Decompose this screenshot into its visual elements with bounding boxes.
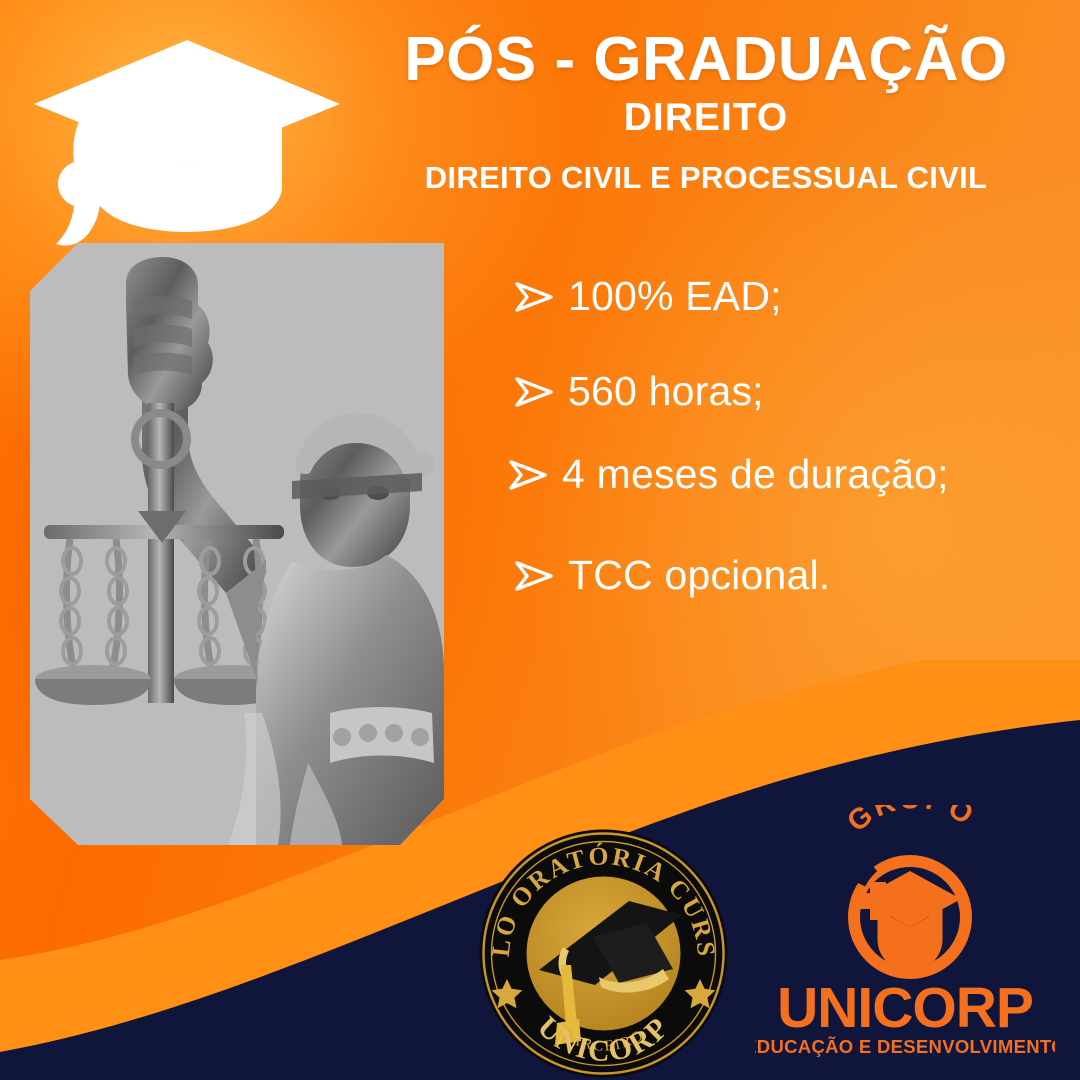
arrow-bullet-icon xyxy=(512,280,568,319)
features-list: 100% EAD; 560 horas; 4 meses de duração;… xyxy=(512,276,1052,598)
course-name: DIREITO CIVIL E PROCESSUAL CIVIL xyxy=(356,160,1056,196)
unicorp-tagline: EDUCAÇÃO E DESENVOLVIMENTO xyxy=(755,1036,1055,1057)
unicorp-grupo-label: GRUPO xyxy=(842,805,981,838)
lady-justice-photo xyxy=(30,243,444,845)
list-item: TCC opcional. xyxy=(512,555,1052,598)
list-item: 4 meses de duração; xyxy=(506,454,1052,497)
graduation-cap-icon xyxy=(22,18,352,258)
page-subtitle: DIREITO xyxy=(356,96,1056,140)
list-item-label: TCC opcional. xyxy=(568,555,830,596)
unicorp-circle-cap-icon xyxy=(854,861,966,973)
page-title: PÓS - GRADUAÇÃO xyxy=(356,28,1056,92)
arrow-bullet-icon xyxy=(512,375,568,414)
list-item: 560 horas; xyxy=(512,371,1052,414)
header-block: PÓS - GRADUAÇÃO DIREITO DIREITO CIVIL E … xyxy=(356,28,1056,196)
poster-canvas: PÓS - GRADUAÇÃO DIREITO DIREITO CIVIL E … xyxy=(0,0,1080,1080)
list-item: 100% EAD; xyxy=(512,276,1052,319)
partner-seal-logo: POLO ORATÓRIA CURSOS PARCEIRO UNICORP xyxy=(477,827,730,1080)
list-item-label: 560 horas; xyxy=(568,371,764,412)
list-item-label: 100% EAD; xyxy=(568,276,782,317)
arrow-bullet-icon xyxy=(506,458,562,497)
list-item-label: 4 meses de duração; xyxy=(562,454,949,495)
unicorp-name: UNICORP xyxy=(777,976,1033,1040)
unicorp-logo: GRUPO UNICORP EDUCAÇÃO E DESENVOLVIMENTO xyxy=(755,805,1055,1070)
arrow-bullet-icon xyxy=(512,559,568,598)
